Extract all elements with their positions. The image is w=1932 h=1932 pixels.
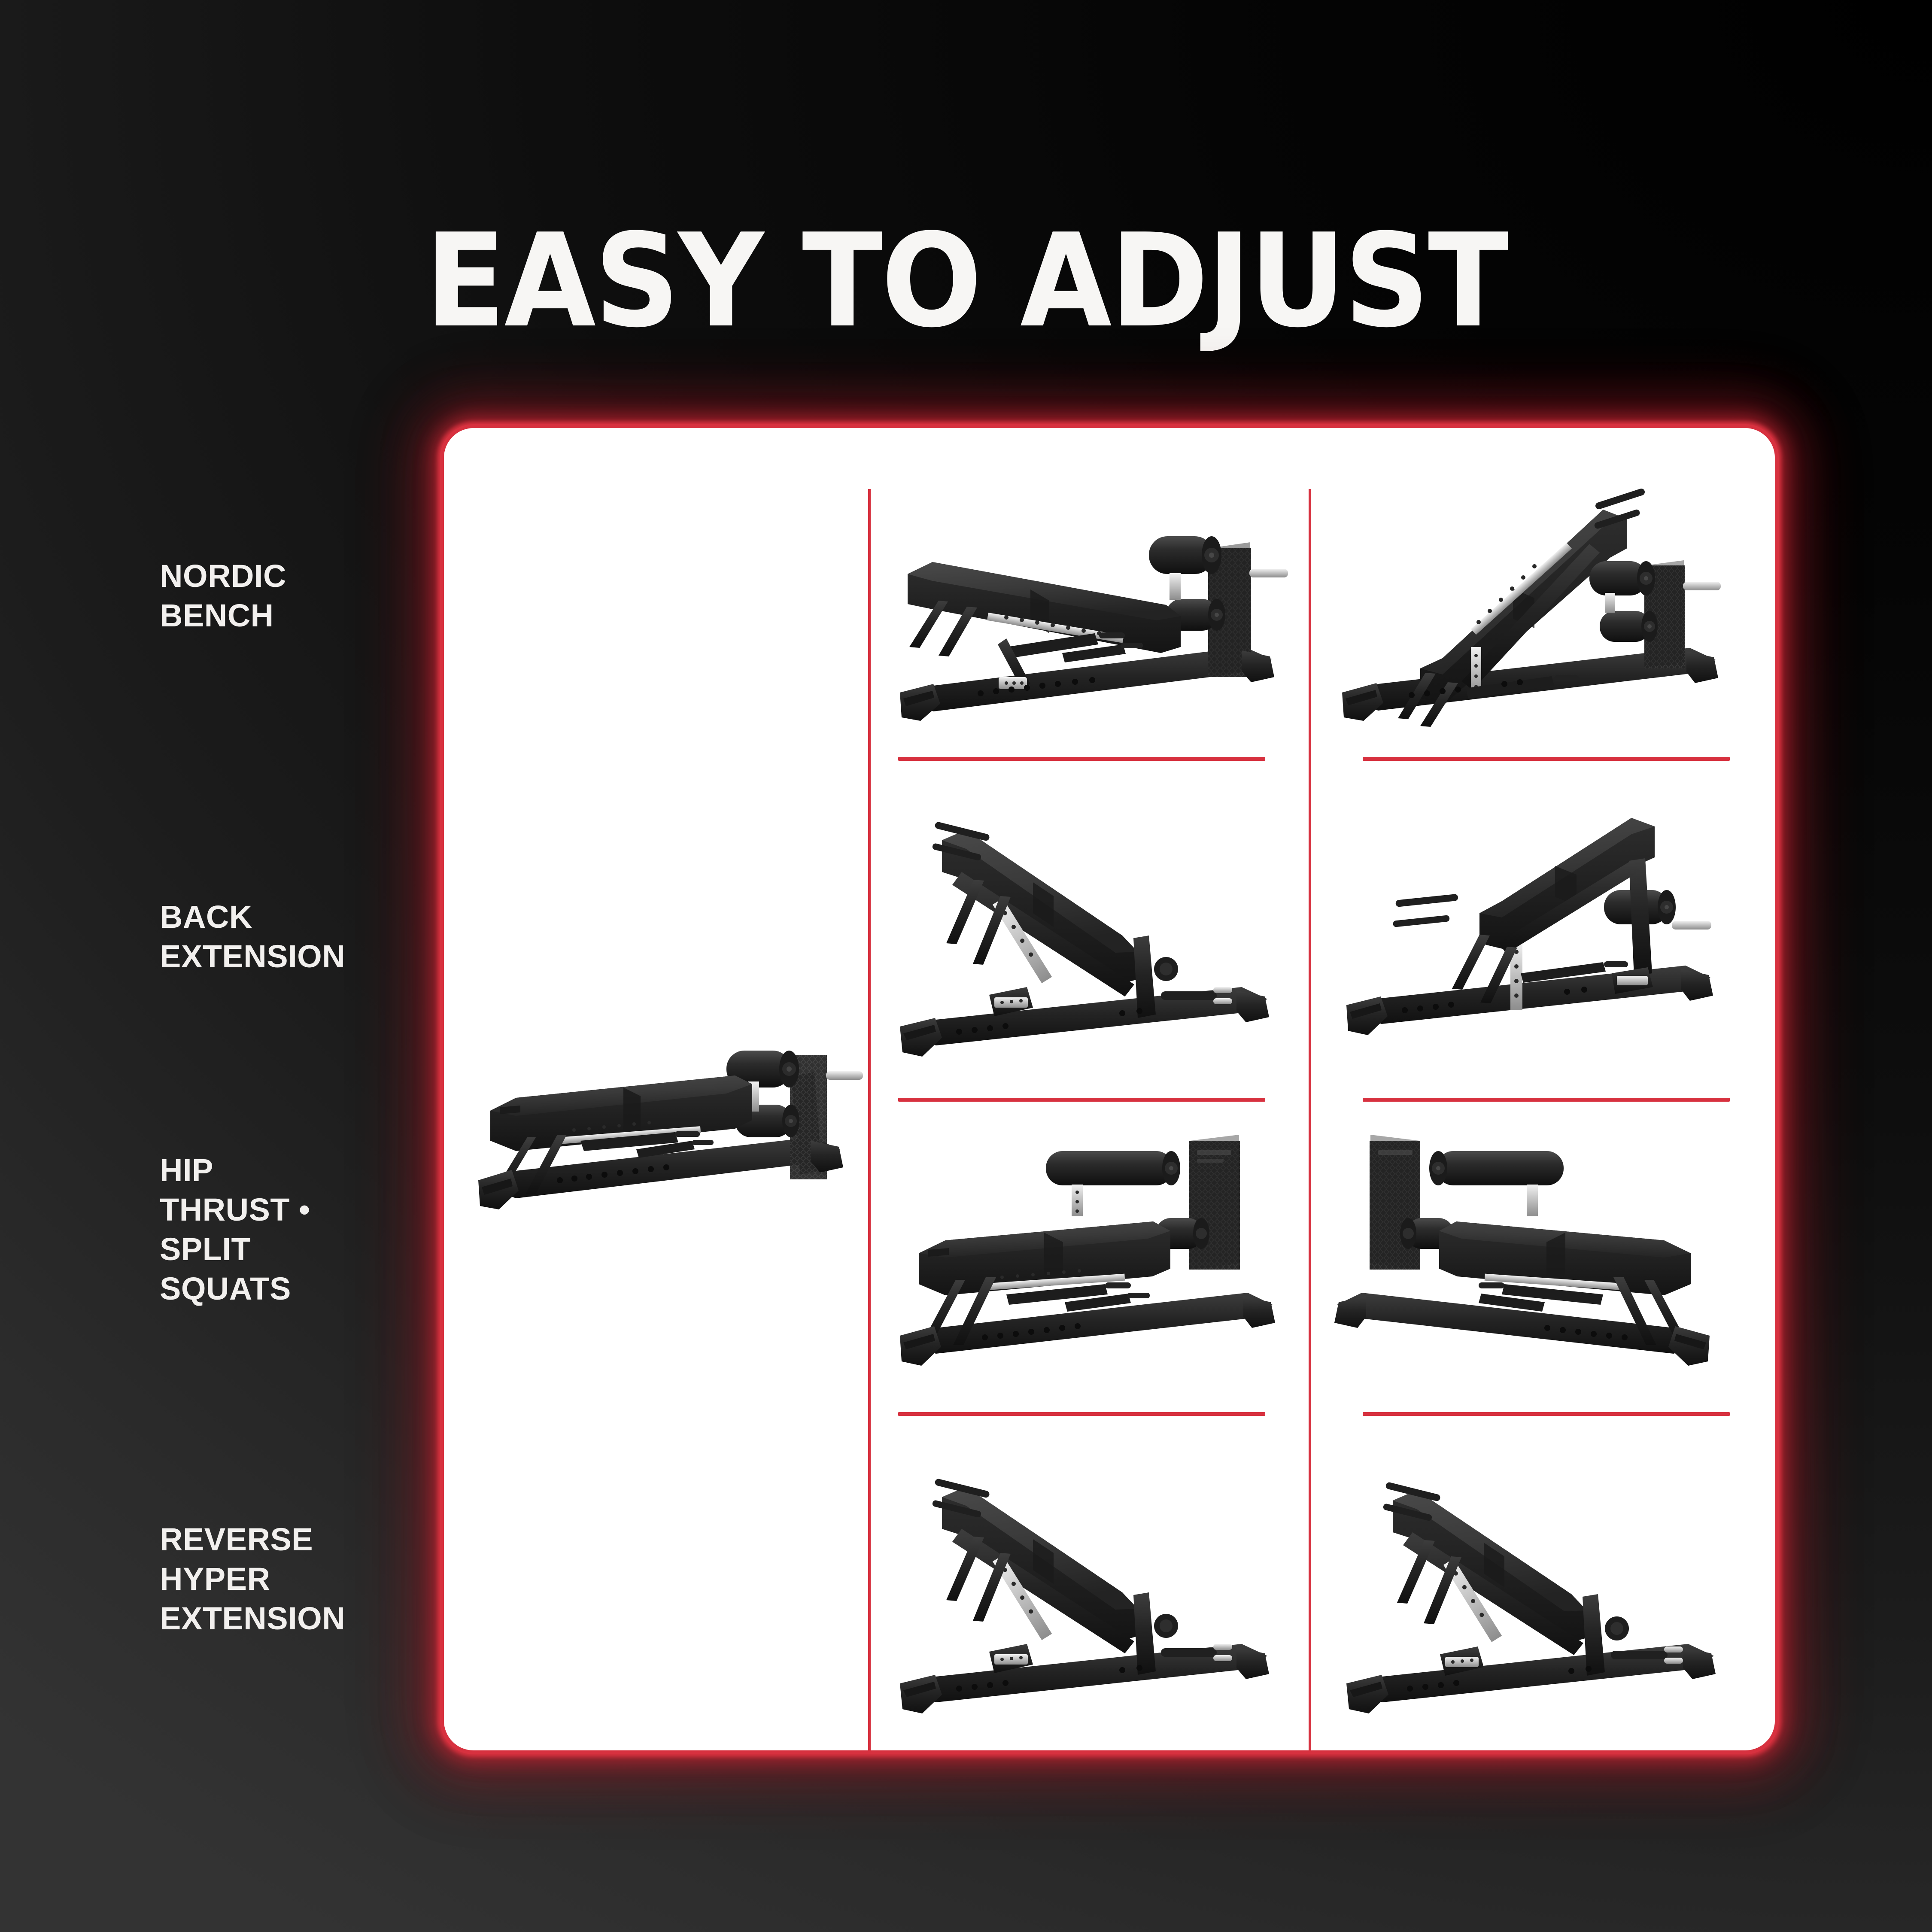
gallery-image-back-extension-pad: back-extension-pad-view [1328, 772, 1728, 1089]
label-line: HIP [160, 1151, 426, 1190]
label-line: BACK [160, 897, 426, 937]
label-line: NORDIC [160, 556, 426, 596]
grid-divider-vertical-1 [868, 489, 871, 1750]
grid-divider-horizontal-col1-2 [898, 1098, 1265, 1102]
product-gallery-card: adjustable-bench-flat-hero [440, 424, 1779, 1754]
grid-divider-horizontal-col1-1 [898, 757, 1265, 761]
label-line: SPLIT [160, 1230, 426, 1269]
exercise-label-list: NORDIC BENCH BACK EXTENSION HIP THRUST •… [160, 421, 426, 1756]
poster-stage: EASY TO ADJUST NORDIC BENCH BACK EXTENSI… [0, 0, 1932, 1932]
grid-divider-horizontal-col2-1 [1363, 757, 1730, 761]
gallery-image-hip-thrust-flat: hip-thrust-flat-view [878, 1111, 1290, 1407]
gallery-image-nordic-bench-decline: nordic-bench-decline-view [878, 497, 1290, 754]
label-line: REVERSE [160, 1520, 426, 1559]
page-title: EASY TO ADJUST [77, 217, 1855, 346]
grid-divider-horizontal-col1-3 [898, 1412, 1265, 1416]
label-hip-thrust-split-squats: HIP THRUST • SPLIT SQUATS [160, 1151, 426, 1309]
gallery-image-hero: adjustable-bench-flat-hero [452, 969, 864, 1235]
label-back-extension: BACK EXTENSION [160, 897, 426, 976]
gallery-image-reverse-hyper-left: reverse-hyper-left-view [882, 1424, 1285, 1742]
label-line: BENCH [160, 596, 426, 635]
gallery-image-nordic-bench-incline: nordic-bench-incline-view [1320, 484, 1732, 754]
label-line: EXTENSION [160, 1599, 426, 1638]
label-line: EXTENSION [160, 937, 426, 976]
gallery-grid: adjustable-bench-flat-hero [444, 428, 1775, 1750]
gallery-image-split-squat-flat: split-squat-flat-view [1320, 1111, 1732, 1407]
gallery-image-reverse-hyper-right: reverse-hyper-right-view [1328, 1424, 1728, 1742]
label-line: SQUATS [160, 1269, 426, 1309]
grid-divider-horizontal-col2-3 [1363, 1412, 1730, 1416]
label-line: HYPER [160, 1559, 426, 1599]
label-nordic-bench: NORDIC BENCH [160, 556, 426, 635]
label-line: THRUST • [160, 1190, 426, 1230]
label-reverse-hyper-extension: REVERSE HYPER EXTENSION [160, 1520, 426, 1638]
grid-divider-horizontal-col2-2 [1363, 1098, 1730, 1102]
gallery-image-back-extension-45: back-extension-45-view [882, 767, 1285, 1089]
grid-divider-vertical-2 [1309, 489, 1311, 1750]
